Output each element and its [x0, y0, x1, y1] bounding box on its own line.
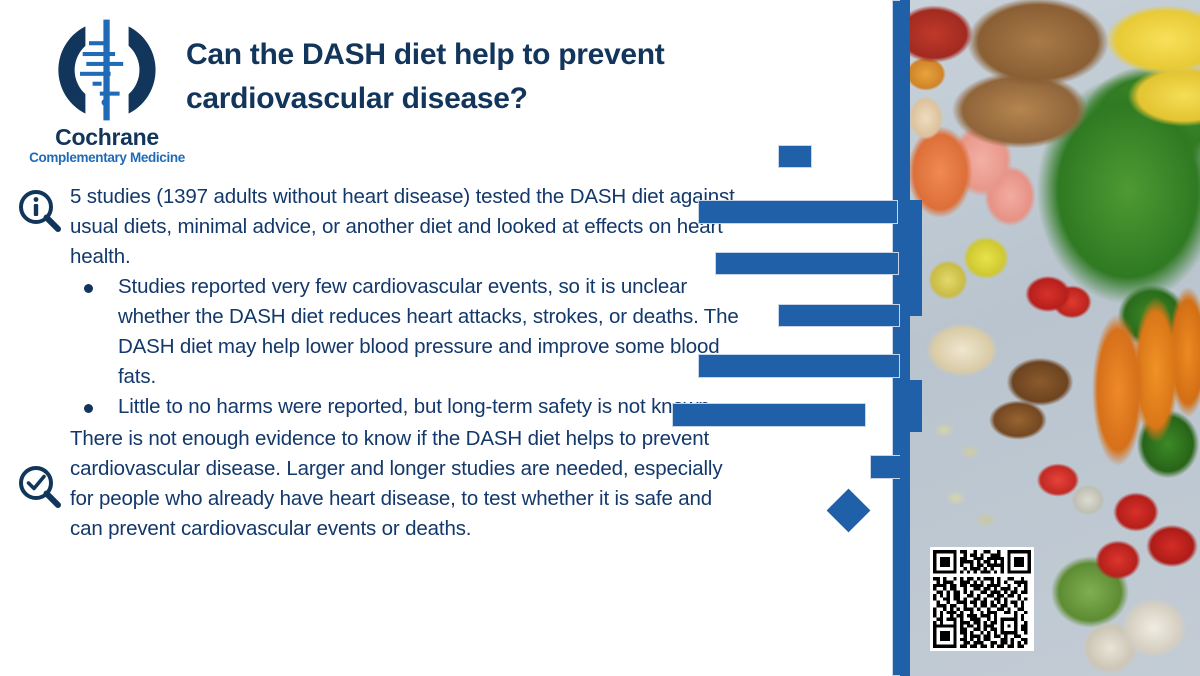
cochrane-forest-plot-logo-icon	[53, 16, 161, 124]
qr-code-icon	[933, 550, 1031, 648]
conclusion-paragraph: There is not enough evidence to know if …	[70, 424, 742, 544]
forest-plot-bar	[698, 354, 900, 378]
logo-group-name: Complementary Medicine	[22, 151, 192, 166]
cochrane-logo: Cochrane Complementary Medicine	[22, 16, 192, 166]
magnifier-info-icon	[14, 188, 66, 234]
frame-accent	[900, 316, 910, 380]
frame-accent	[900, 380, 922, 432]
list-item: Little to no harms were reported, but lo…	[70, 392, 742, 422]
forest-plot-bar	[778, 145, 812, 168]
list-item: Studies reported very few cardiovascular…	[70, 272, 742, 392]
page-title: Can the DASH diet help to prevent cardio…	[186, 33, 826, 121]
findings-bullets: Studies reported very few cardiovascular…	[70, 272, 742, 422]
forest-plot-bar	[672, 403, 866, 427]
magnifier-check-icon	[14, 464, 66, 510]
forest-plot-bar	[715, 252, 899, 275]
summary-body: 5 studies (1397 adults without heart dis…	[0, 182, 800, 544]
content-column: Cochrane Complementary Medicine Can the …	[0, 0, 870, 676]
forest-plot-bar	[778, 304, 900, 327]
logo-wordmark: Cochrane	[22, 125, 192, 149]
frame-accent	[900, 200, 922, 316]
qr-code[interactable]	[930, 547, 1034, 651]
findings-paragraph: 5 studies (1397 adults without heart dis…	[70, 182, 742, 272]
conclusion-section: There is not enough evidence to know if …	[0, 424, 800, 544]
frame-accent	[900, 0, 910, 200]
forest-plot-summary-diamond	[827, 489, 871, 533]
forest-plot-decoration	[760, 0, 920, 676]
forest-plot-bar	[698, 200, 898, 224]
what-we-found-section: 5 studies (1397 adults without heart dis…	[0, 182, 800, 422]
poster: Cochrane Complementary Medicine Can the …	[0, 0, 1200, 676]
frame-accent	[900, 432, 910, 676]
